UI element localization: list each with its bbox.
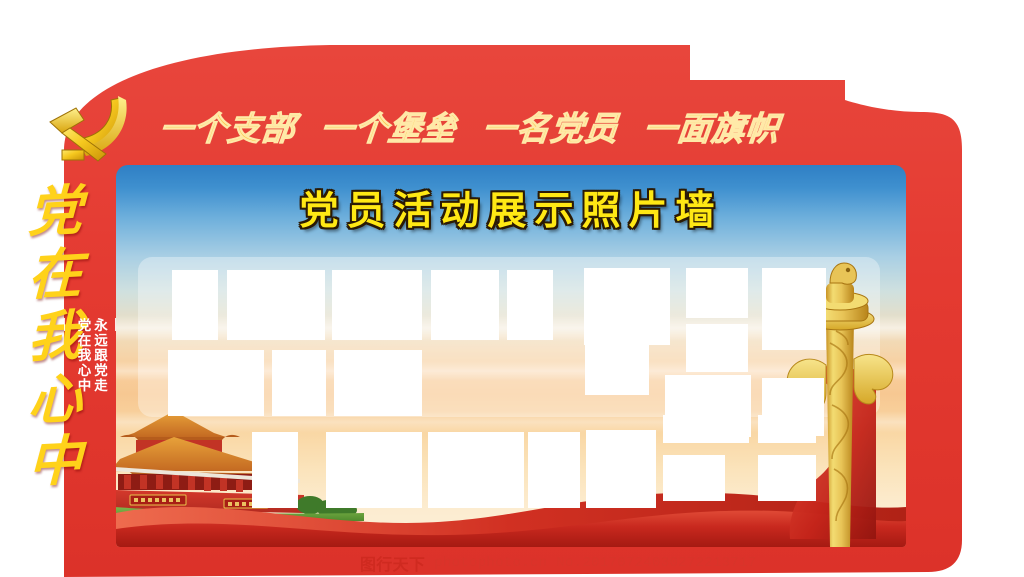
watermark: 图行天下 photophoto.cn No.201707240302722137… [360, 552, 920, 574]
photo-frame[interactable] [686, 268, 748, 318]
watermark-url: photophoto.cn [434, 555, 547, 571]
slogan-phrase-4: 一面旗帜 [641, 102, 782, 150]
photo-frame[interactable] [272, 350, 326, 416]
photo-frame[interactable] [663, 415, 749, 443]
photo-frame[interactable] [758, 455, 816, 501]
vtitle-char-1: 党 [28, 187, 83, 239]
photo-wall-panel: 党员活动展示照片墙 [116, 165, 906, 547]
photo-frame[interactable] [428, 432, 524, 508]
photo-frame[interactable] [663, 455, 725, 501]
photo-frame[interactable] [762, 268, 826, 350]
page-title: 党员活动展示照片墙 [116, 183, 906, 233]
photo-frame[interactable] [528, 432, 580, 508]
photo-frame[interactable] [168, 350, 264, 416]
photo-frame[interactable] [334, 350, 422, 416]
watermark-brand-cn: 图行天下 [360, 551, 425, 575]
vtitle-char-3: 我 [28, 312, 83, 364]
photo-frame[interactable] [585, 345, 649, 395]
slogan-phrase-3: 一名党员 [480, 102, 621, 150]
vsub-line-2: 党在我心中 [76, 318, 90, 393]
slogan-phrase-1: 一个支部 [157, 102, 298, 150]
photo-frame[interactable] [758, 415, 816, 443]
vtitle-char-5: 中 [28, 437, 83, 489]
photo-frame[interactable] [252, 432, 298, 508]
vtitle-char-4: 心 [28, 374, 83, 426]
photo-frame[interactable] [227, 270, 325, 340]
vsub-line-1: 永远跟党走 [93, 318, 107, 393]
poster-canvas: 党 在 我 心 中 — 永远跟党走 党在我心中 — 一个支部 一个堡垒 一名党员… [0, 0, 1024, 577]
photo-frame[interactable] [326, 432, 422, 508]
photo-frame[interactable] [172, 270, 218, 340]
photo-frame[interactable] [686, 324, 748, 372]
vtitle-char-2: 在 [28, 249, 83, 301]
photo-frame[interactable] [431, 270, 499, 340]
photo-frame[interactable] [586, 430, 656, 508]
vsub-dash-bottom: — [58, 318, 73, 331]
photo-frame[interactable] [332, 270, 422, 340]
slogan-phrase-2: 一个堡垒 [319, 102, 460, 150]
photo-frame[interactable] [507, 270, 553, 340]
watermark-code: No.20170724030272213717 [556, 555, 756, 571]
photo-frame[interactable] [584, 268, 670, 345]
top-slogan-banner: 一个支部 一个堡垒 一名党员 一面旗帜 [160, 98, 780, 154]
party-emblem-icon [32, 88, 142, 170]
